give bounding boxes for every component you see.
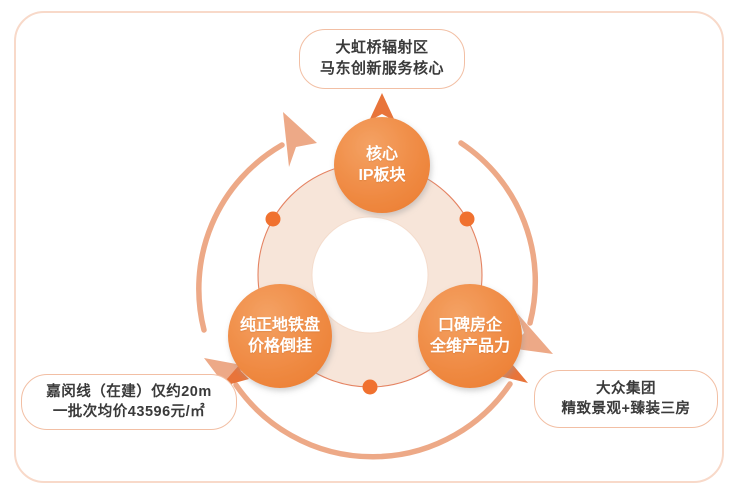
arrow-head-1 (283, 112, 317, 167)
node-circle-brand[interactable] (418, 284, 522, 388)
arrow-arc-3 (236, 384, 510, 457)
diagram-canvas: 核心 IP板块 纯正地铁盘 价格倒挂 口碑房企 全维产品力 大虹桥辐射区 马东创… (0, 0, 740, 497)
callout-top-line2: 马东创新服务核心 (320, 59, 444, 80)
callout-right[interactable]: 大众集团 精致景观+臻装三房 (534, 370, 718, 428)
ring-inner-stroke (312, 217, 428, 333)
ring-dot (363, 380, 378, 395)
ring-dot (266, 212, 281, 227)
pointer-arrow-up (369, 93, 395, 121)
callout-right-line2: 精致景观+臻装三房 (562, 399, 691, 419)
callout-top[interactable]: 大虹桥辐射区 马东创新服务核心 (299, 29, 465, 89)
callout-left-line1: 嘉闵线（在建）仅约20m (46, 382, 212, 402)
callout-left-line2: 一批次均价43596元/㎡ (53, 402, 205, 422)
ring-dot (460, 212, 475, 227)
callout-top-line1: 大虹桥辐射区 (335, 38, 428, 59)
node-circle-core[interactable] (334, 117, 430, 213)
callout-right-line1: 大众集团 (596, 379, 656, 399)
callout-left[interactable]: 嘉闵线（在建）仅约20m 一批次均价43596元/㎡ (21, 374, 237, 430)
node-circle-metro[interactable] (228, 284, 332, 388)
